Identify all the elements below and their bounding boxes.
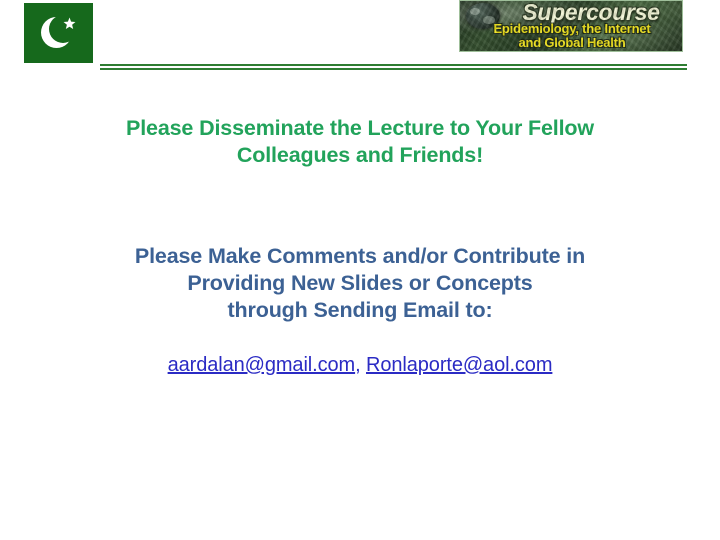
contribute-heading-line3: through Sending Email to: (36, 297, 684, 324)
email-links-row: aardalan@gmail.com, Ronlaporte@aol.com (36, 324, 684, 377)
email-separator: , (355, 354, 366, 376)
pakistan-flag-icon (24, 3, 93, 63)
contribute-heading-line2: Providing New Slides or Concepts (36, 270, 684, 297)
email-link-ronlaporte[interactable]: Ronlaporte@aol.com (366, 354, 552, 376)
contribute-heading-line1: Please Make Comments and/or Contribute i… (36, 243, 684, 270)
slide-header: Supercourse Epidemiology, the Internet a… (0, 0, 720, 75)
divider-line-top (100, 64, 687, 66)
supercourse-logo-subtitle-line2: and Global Health (462, 35, 682, 50)
dissemination-heading: Please Disseminate the Lecture to Your F… (36, 115, 684, 169)
slide-canvas: Supercourse Epidemiology, the Internet a… (0, 0, 720, 540)
dissemination-heading-line1: Please Disseminate the Lecture to Your F… (36, 115, 684, 142)
supercourse-logo-subtitle-line1: Epidemiology, the Internet (462, 21, 682, 36)
slide-body: Please Disseminate the Lecture to Your F… (0, 115, 720, 377)
dissemination-heading-line2: Colleagues and Friends! (36, 142, 684, 169)
header-divider (100, 64, 687, 70)
email-link-aardalan[interactable]: aardalan@gmail.com (168, 354, 355, 376)
divider-line-bottom (100, 68, 687, 70)
contribute-heading: Please Make Comments and/or Contribute i… (36, 169, 684, 324)
star-icon (63, 17, 76, 30)
supercourse-logo[interactable]: Supercourse Epidemiology, the Internet a… (459, 0, 683, 52)
